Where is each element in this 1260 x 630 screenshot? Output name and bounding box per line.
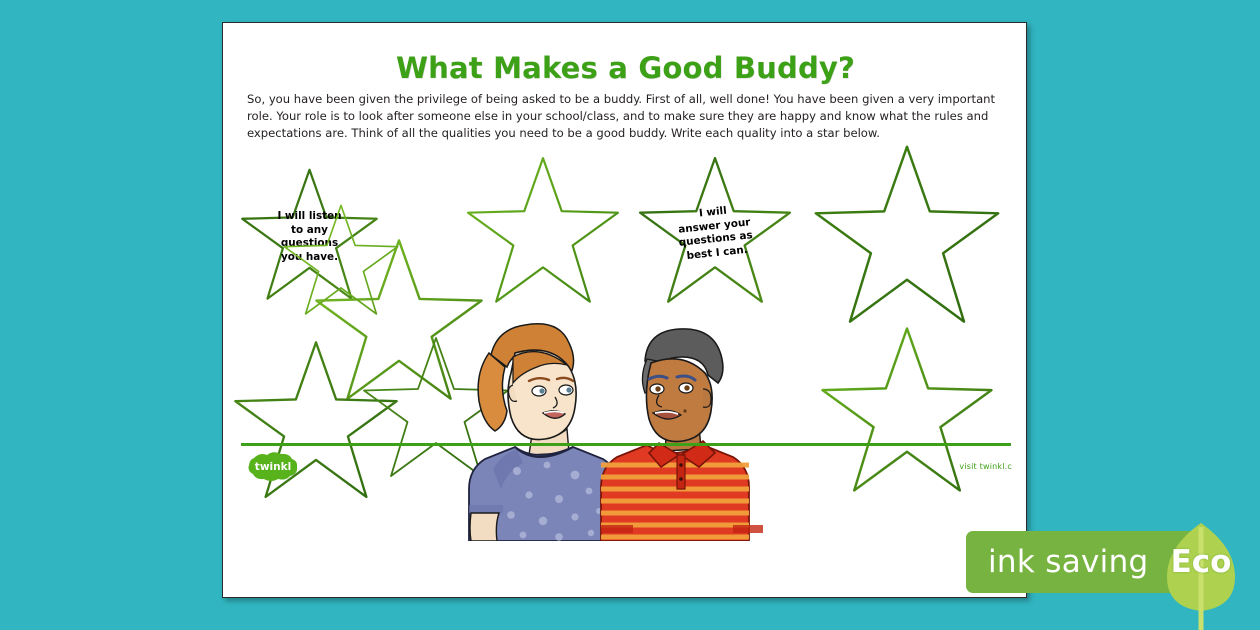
footer-divider <box>241 443 1011 446</box>
twinkl-logo[interactable]: twinkl <box>245 452 301 482</box>
two-children-illustration <box>455 319 785 541</box>
stars-area: I will listen to any questions you have. <box>223 141 1027 539</box>
star-item[interactable] <box>817 325 997 501</box>
worksheet-page: What Makes a Good Buddy? So, you have be… <box>222 22 1027 598</box>
eco-label: Eco <box>1152 531 1250 593</box>
visit-twinkl-link[interactable]: visit twinkl.c <box>959 462 1012 471</box>
star-item[interactable]: I will answer your questions as best I c… <box>635 155 795 311</box>
ink-saving-label: ink saving <box>988 544 1149 580</box>
star-item[interactable] <box>809 143 1005 333</box>
intro-paragraph: So, you have been given the privilege of… <box>247 91 1013 142</box>
star-item[interactable] <box>463 155 623 311</box>
twinkl-logo-text: twinkl <box>255 461 291 473</box>
star-item[interactable] <box>281 203 401 321</box>
screenshot-canvas: What Makes a Good Buddy? So, you have be… <box>0 0 1260 630</box>
page-title: What Makes a Good Buddy? <box>223 51 1027 85</box>
ink-saving-eco-badge: ink saving Eco <box>966 531 1260 593</box>
